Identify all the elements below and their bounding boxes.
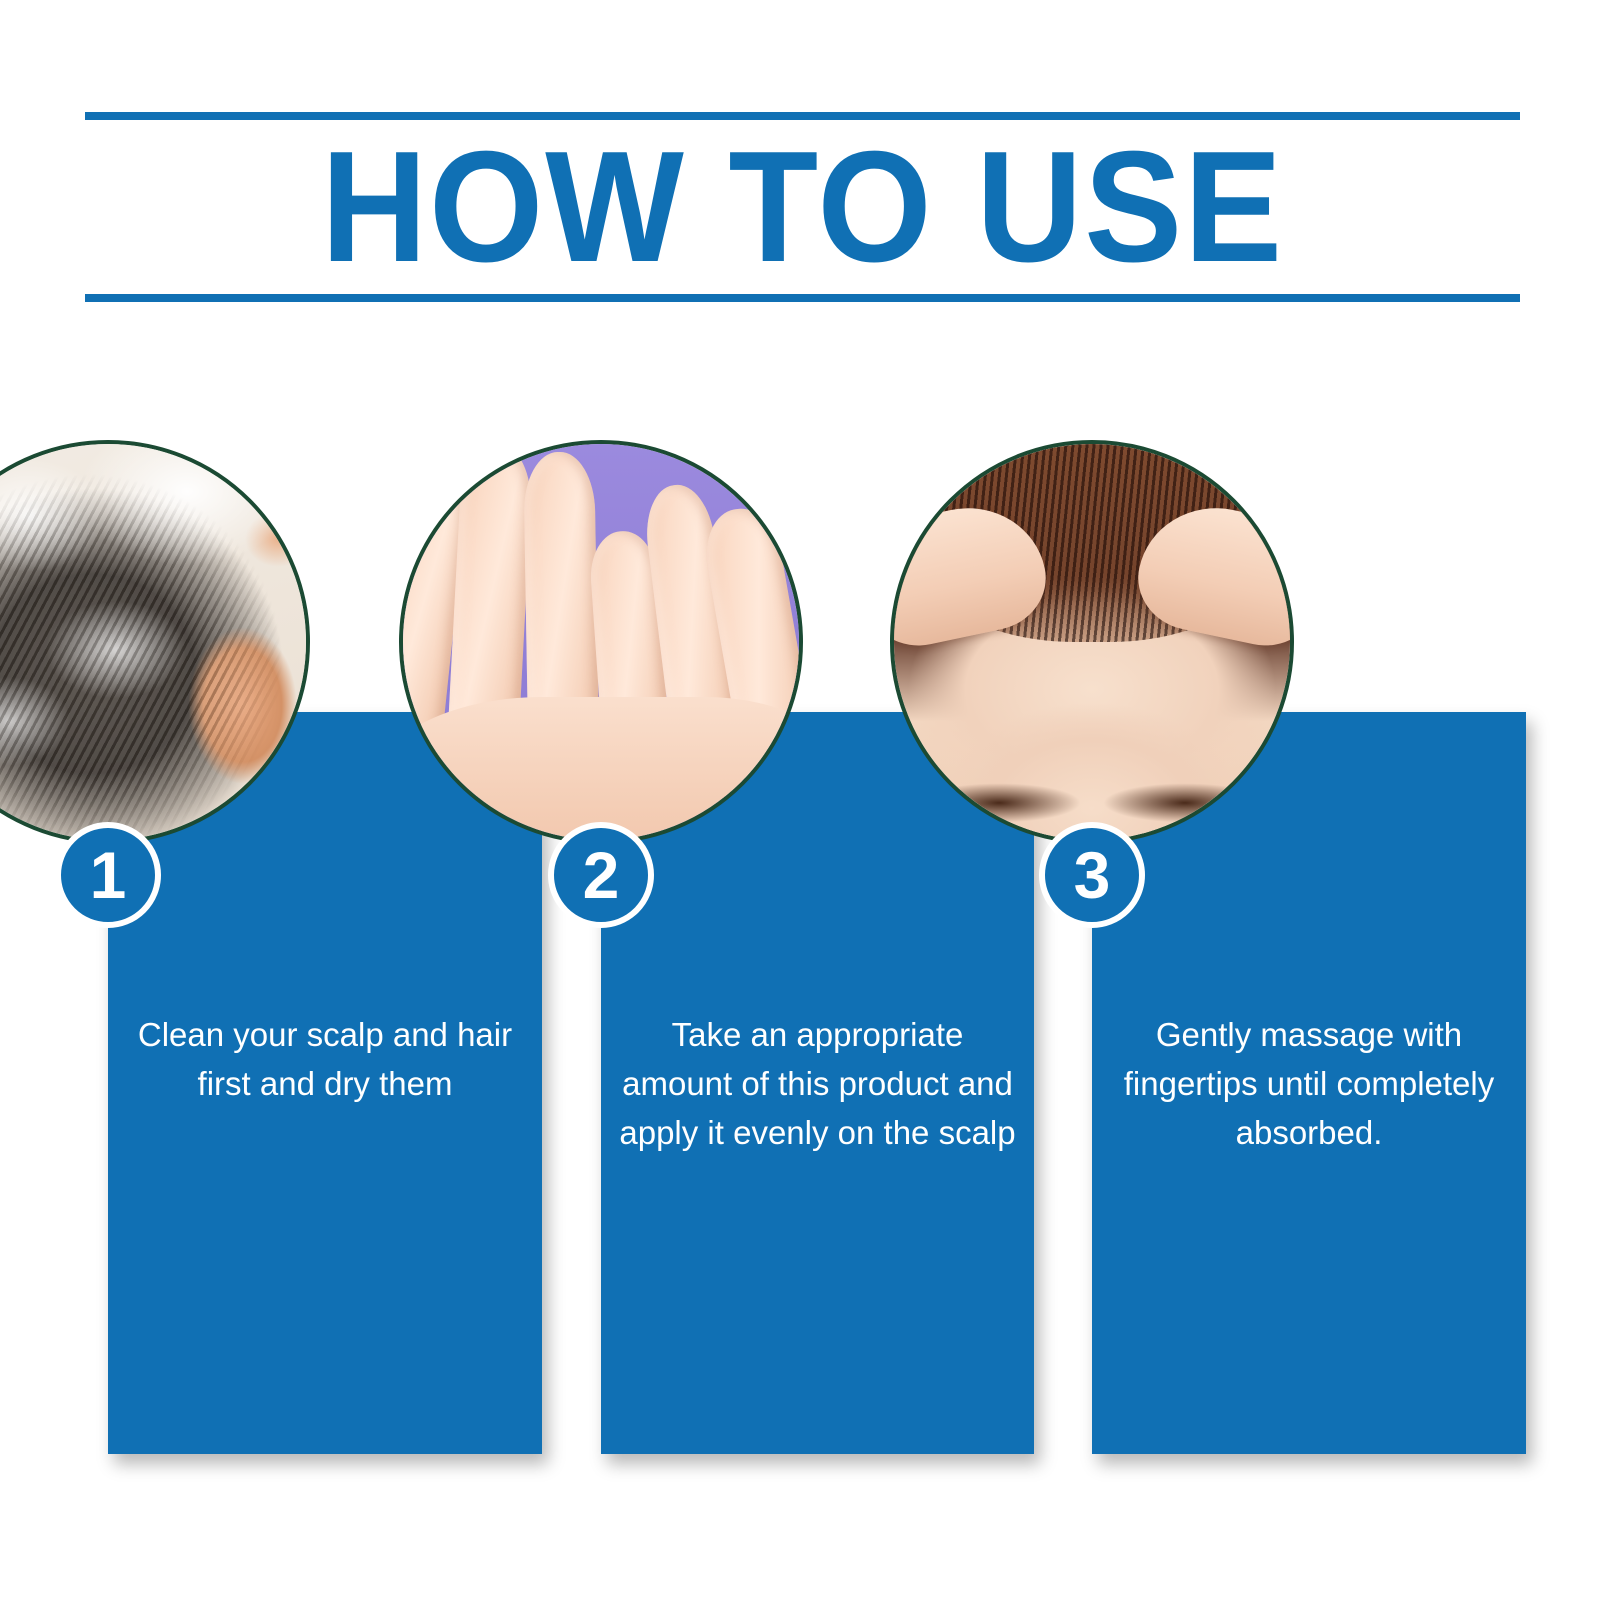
palm	[403, 697, 799, 840]
step-1-photo-circle	[0, 440, 310, 844]
step-3-caption: Gently massage with fingertips until com…	[1110, 1010, 1508, 1157]
step-3-number-badge: 3	[1039, 822, 1145, 928]
product-on-fingers-photo	[403, 444, 799, 840]
step-2-number-badge: 2	[548, 822, 654, 928]
eyebrows	[926, 777, 1259, 825]
step-1-number-badge: 1	[55, 822, 161, 928]
fingers-group	[403, 444, 799, 840]
shampoo-hair-photo	[0, 444, 306, 840]
right-hand	[1128, 494, 1290, 656]
step-1-caption: Clean your scalp and hair first and dry …	[126, 1010, 524, 1108]
step-3-photo-circle	[890, 440, 1294, 844]
step-2-photo-circle	[399, 440, 803, 844]
left-hand	[894, 494, 1056, 656]
steps-row: 1 Clean your scalp and hair first and dr…	[0, 0, 1600, 1600]
step-2-caption: Take an appropriate amount of this produ…	[619, 1010, 1016, 1157]
scalp-massage-photo	[894, 444, 1290, 840]
